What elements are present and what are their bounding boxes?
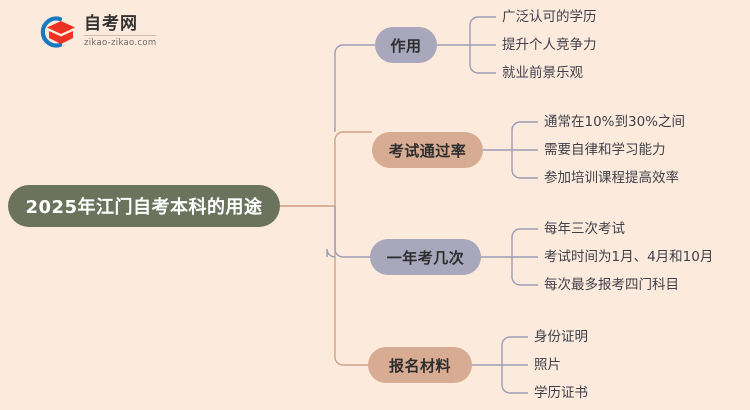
leaf-3-3[interactable]: 每次最多报考四门科目 (544, 279, 679, 293)
leaf-2-2[interactable]: 需要自律和学习能力 (544, 144, 666, 158)
logo-domain: zikao-zikao.com (84, 36, 156, 48)
branch-node-3[interactable]: 一年考几次 (370, 239, 481, 275)
connector-spine-tan (335, 206, 368, 365)
branch-node-4[interactable]: 报名材料 (368, 347, 472, 383)
branch-node-1[interactable]: 作用 (375, 27, 437, 63)
leaf-4-3[interactable]: 学历证书 (534, 387, 588, 401)
leaf-2-3[interactable]: 参加培训课程提高效率 (544, 172, 679, 186)
leaf-1-1[interactable]: 广泛认可的学历 (502, 11, 597, 25)
leaf-2-1[interactable]: 通常在10%到30%之间 (544, 116, 685, 130)
site-logo: 自考网 zikao-zikao.com (30, 12, 156, 52)
graduation-cap-icon (30, 12, 76, 52)
leaf-3-1[interactable]: 每年三次考试 (544, 223, 625, 237)
branch-node-2[interactable]: 考试通过率 (372, 132, 483, 168)
branch-node-4-label: 报名材料 (389, 355, 451, 376)
leaf-4-2[interactable]: 照片 (534, 359, 561, 373)
logo-text: 自考网 zikao-zikao.com (84, 16, 156, 48)
logo-name: 自考网 (84, 16, 156, 36)
connector-spine-branch1 (335, 45, 375, 132)
root-node[interactable]: 2025年江门自考本科的用途 (8, 185, 280, 227)
branch-node-2-label: 考试通过率 (389, 140, 467, 161)
connector-spine-branch3 (327, 249, 370, 257)
leaf-1-2[interactable]: 提升个人竞争力 (502, 39, 597, 53)
leaf-3-2[interactable]: 考试时间为1月、4月和10月 (544, 251, 713, 265)
branch-node-3-label: 一年考几次 (387, 247, 465, 268)
connector-spine-branch2 (335, 132, 372, 206)
leaf-1-3[interactable]: 就业前景乐观 (502, 67, 583, 81)
root-node-label: 2025年江门自考本科的用途 (25, 193, 262, 219)
branch-node-1-label: 作用 (390, 35, 421, 56)
leaf-4-1[interactable]: 身份证明 (534, 331, 588, 345)
